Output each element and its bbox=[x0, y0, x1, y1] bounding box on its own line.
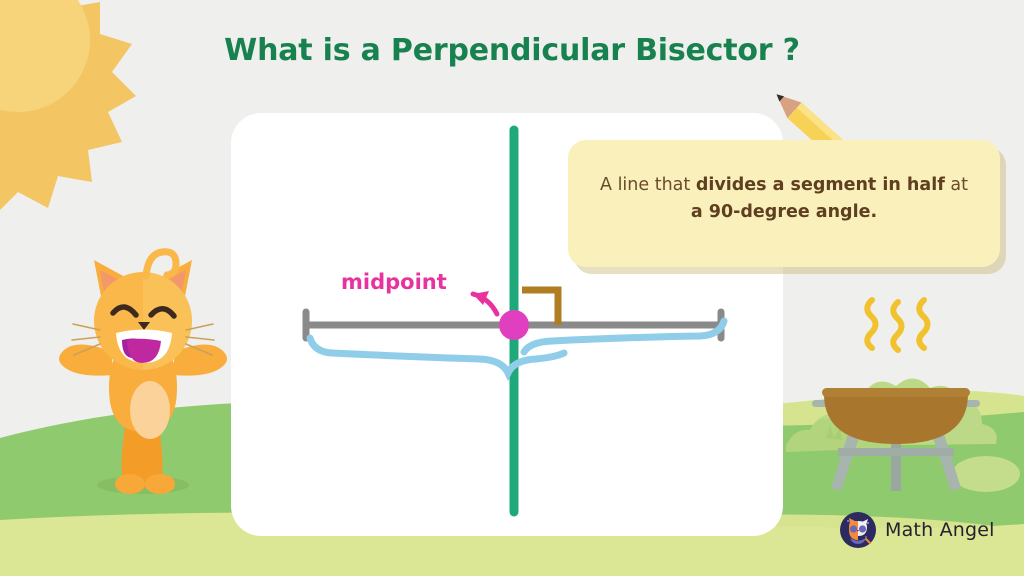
cat-mascot-icon bbox=[840, 512, 876, 548]
slide-canvas: What is a Perpendicular Bisector ? A lin… bbox=[0, 0, 1024, 576]
page-title: What is a Perpendicular Bisector ? bbox=[0, 33, 1024, 68]
definition-text: A line that divides a segment in half at… bbox=[592, 172, 976, 226]
definition-callout: A line that divides a segment in half at… bbox=[568, 140, 1000, 267]
definition-part-2: at bbox=[945, 175, 968, 195]
brand-logo[interactable]: Math Angel bbox=[840, 512, 995, 548]
definition-part-1: A line that bbox=[600, 175, 696, 195]
definition-bold-1: divides a segment in half bbox=[696, 175, 945, 195]
midpoint-label: midpoint bbox=[341, 270, 447, 294]
pencil-icon bbox=[0, 0, 1024, 576]
definition-bold-2: a 90-degree angle. bbox=[691, 202, 877, 222]
brand-name: Math Angel bbox=[885, 519, 995, 541]
